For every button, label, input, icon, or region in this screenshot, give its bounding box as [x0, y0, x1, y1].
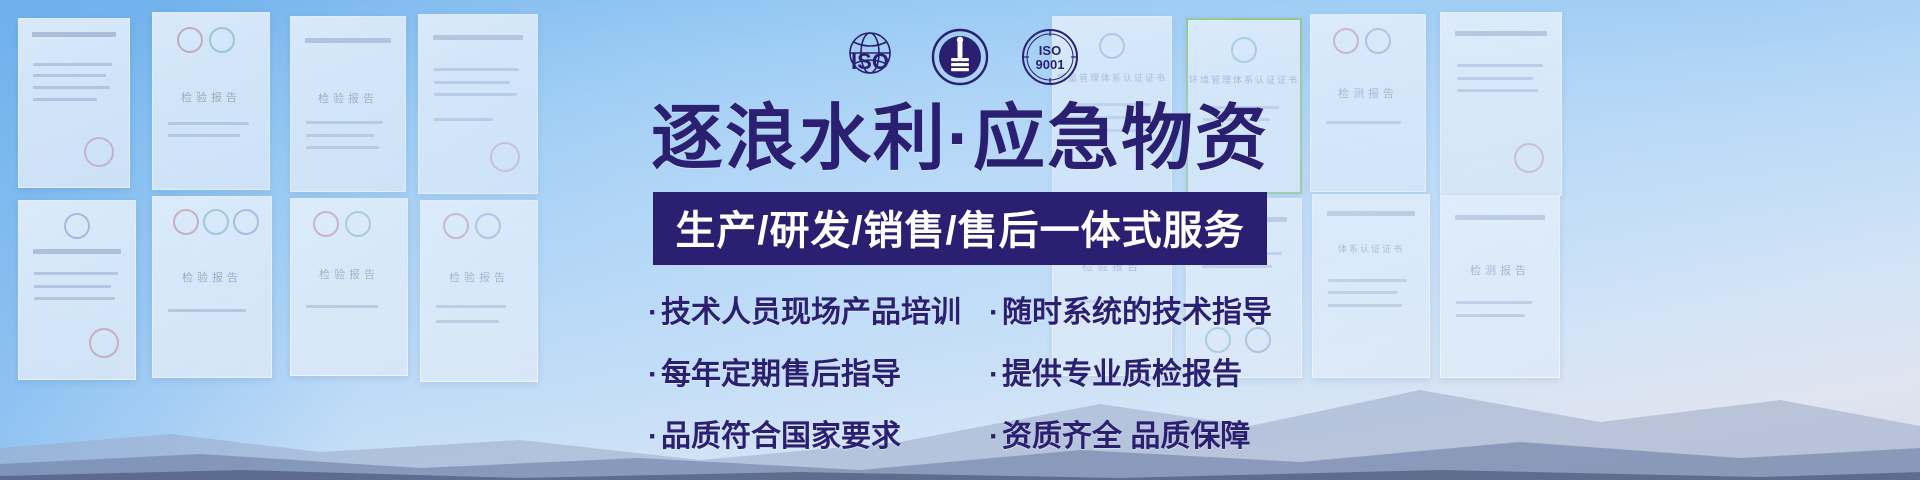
feature-item: ·随时系统的技术指导	[989, 287, 1272, 331]
feature-item: ·每年定期售后指导	[648, 349, 961, 393]
bullet-dot: ·	[989, 358, 999, 391]
feature-label: 提供专业质检报告	[1002, 358, 1242, 391]
bullet-dot: ·	[648, 358, 658, 391]
svg-text:9001: 9001	[1036, 57, 1065, 72]
bullet-dot: ·	[989, 420, 999, 453]
feature-label: 品质符合国家要求	[661, 420, 901, 453]
feature-label: 每年定期售后指导	[661, 358, 901, 391]
bullet-dot: ·	[989, 296, 999, 329]
feature-label: 资质齐全 品质保障	[1002, 420, 1250, 453]
iso-globe-badge-icon: ISO	[840, 27, 900, 87]
feature-label: 随时系统的技术指导	[1002, 296, 1272, 329]
svg-text:ISO: ISO	[1039, 43, 1061, 58]
subtitle-bar: 生产/研发/销售/售后一体式服务	[653, 192, 1266, 265]
feature-label: 技术人员现场产品培训	[661, 296, 961, 329]
svg-text:ISO: ISO	[851, 49, 889, 74]
page-title: 逐浪水利·应急物资	[651, 102, 1269, 178]
feature-item: ·技术人员现场产品培训	[648, 287, 961, 331]
feature-item: ·资质齐全 品质保障	[989, 411, 1272, 455]
feature-list: ·技术人员现场产品培训 ·随时系统的技术指导 ·每年定期售后指导 ·提供专业质检…	[648, 287, 1272, 455]
bullet-dot: ·	[648, 296, 658, 329]
feature-item: ·品质符合国家要求	[648, 411, 961, 455]
bullet-dot: ·	[648, 420, 658, 453]
feature-item: ·提供专业质检报告	[989, 349, 1272, 393]
certification-badges: ISO	[840, 26, 1080, 88]
quality-seal-badge-icon	[930, 27, 990, 87]
promo-banner: 检验报告 检验报告 质量管理体系认证证书	[0, 0, 1920, 480]
iso-9001-badge-icon: ISO 9001	[1020, 27, 1080, 87]
banner-content: ISO	[0, 0, 1920, 480]
